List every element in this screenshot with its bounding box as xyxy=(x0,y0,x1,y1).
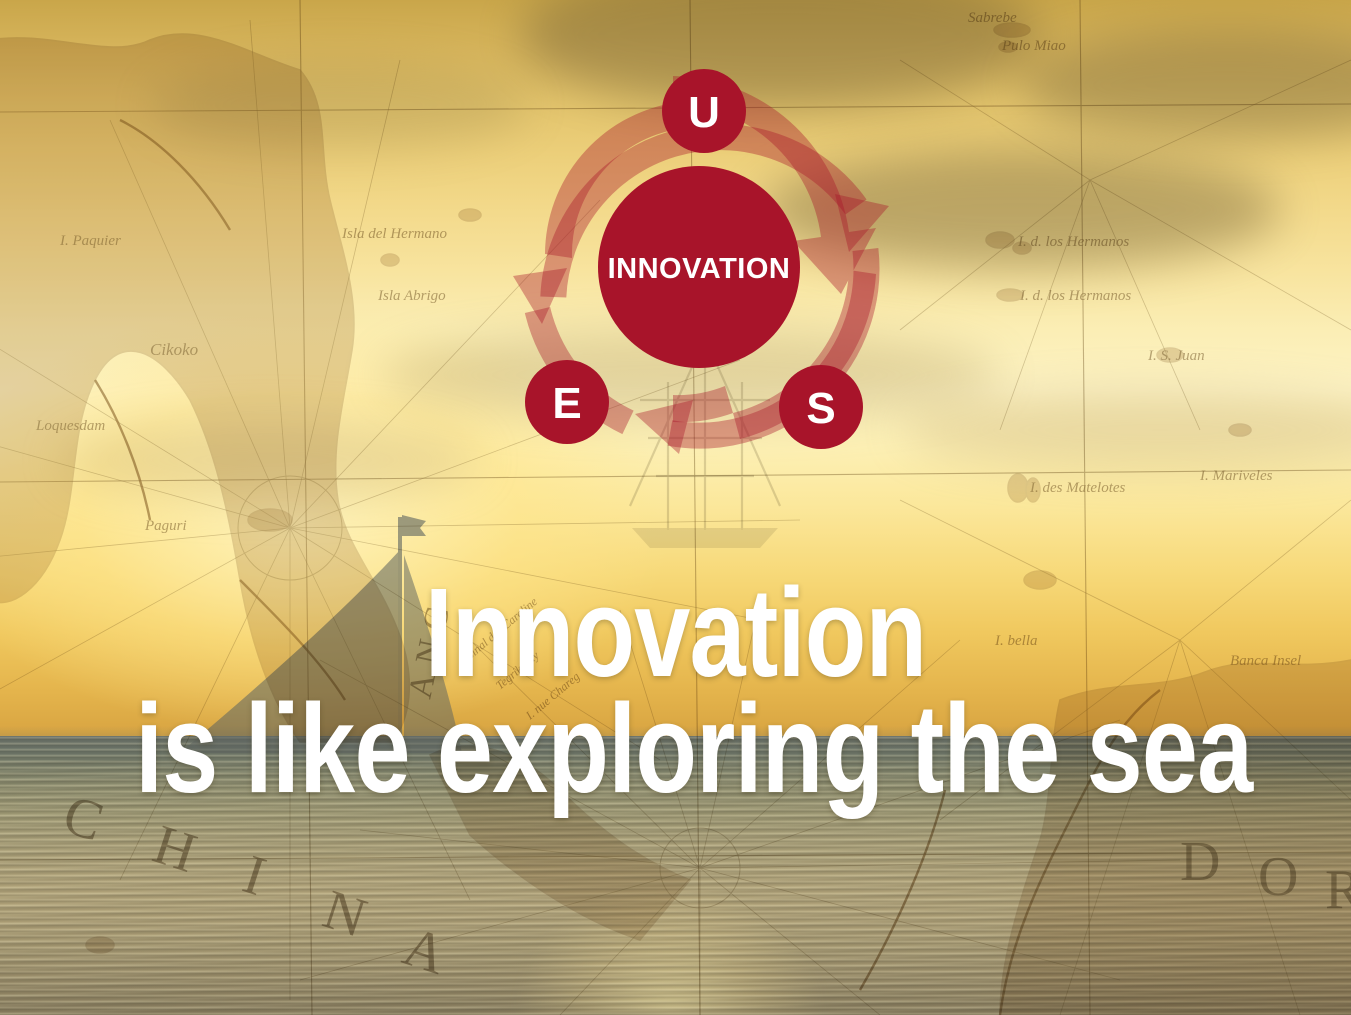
svg-text:O: O xyxy=(1258,846,1318,908)
svg-text:N: N xyxy=(316,878,393,956)
svg-text:D: D xyxy=(1180,831,1240,893)
svg-text:I. Paquier: I. Paquier xyxy=(59,233,121,249)
svg-text:Sabrebe: Sabrebe xyxy=(968,10,1017,26)
innovation-center-label: INNOVATION xyxy=(608,253,791,285)
svg-text:Banca Insel: Banca Insel xyxy=(1230,653,1301,669)
svg-text:I: I xyxy=(236,843,292,914)
svg-text:I. S. Juan: I. S. Juan xyxy=(1147,348,1205,364)
svg-text:A: A xyxy=(396,915,473,993)
cycle-node-u[interactable]: U xyxy=(662,69,746,153)
innovation-center-node: INNOVATION xyxy=(598,166,800,368)
svg-text:I. d. los Hermanos: I. d. los Hermanos xyxy=(1017,234,1129,250)
svg-text:Isla Abrigo: Isla Abrigo xyxy=(377,288,446,304)
slide-canvas: .rh{stroke:#6b5426;stroke-width:1.1;fill… xyxy=(0,0,1351,1015)
cycle-node-s-label: S xyxy=(806,384,835,433)
headline-line-2: is like exploring the sea xyxy=(135,691,1216,807)
use-innovation-cycle-diagram: INNOVATION U S E xyxy=(497,62,901,472)
svg-text:C: C xyxy=(56,783,130,860)
cycle-node-s[interactable]: S xyxy=(779,365,863,449)
cycle-node-u-label: U xyxy=(688,88,720,137)
svg-text:Pulo Miao: Pulo Miao xyxy=(1001,38,1066,54)
svg-text:H: H xyxy=(146,813,223,891)
svg-text:Loquesdam: Loquesdam xyxy=(35,418,105,434)
svg-text:I. d. los Hermanos: I. d. los Hermanos xyxy=(1019,288,1131,304)
svg-text:I. des Matelotes: I. des Matelotes xyxy=(1029,480,1126,496)
svg-text:Isla del Hermano: Isla del Hermano xyxy=(341,226,447,242)
cycle-node-e[interactable]: E xyxy=(525,360,609,444)
headline: Innovation is like exploring the sea xyxy=(135,575,1216,807)
svg-text:Paguri: Paguri xyxy=(144,518,187,534)
svg-text:R: R xyxy=(1325,859,1351,921)
svg-text:I. Mariveles: I. Mariveles xyxy=(1199,468,1273,484)
cycle-node-e-label: E xyxy=(552,379,581,428)
svg-text:Cikoko: Cikoko xyxy=(150,340,198,359)
